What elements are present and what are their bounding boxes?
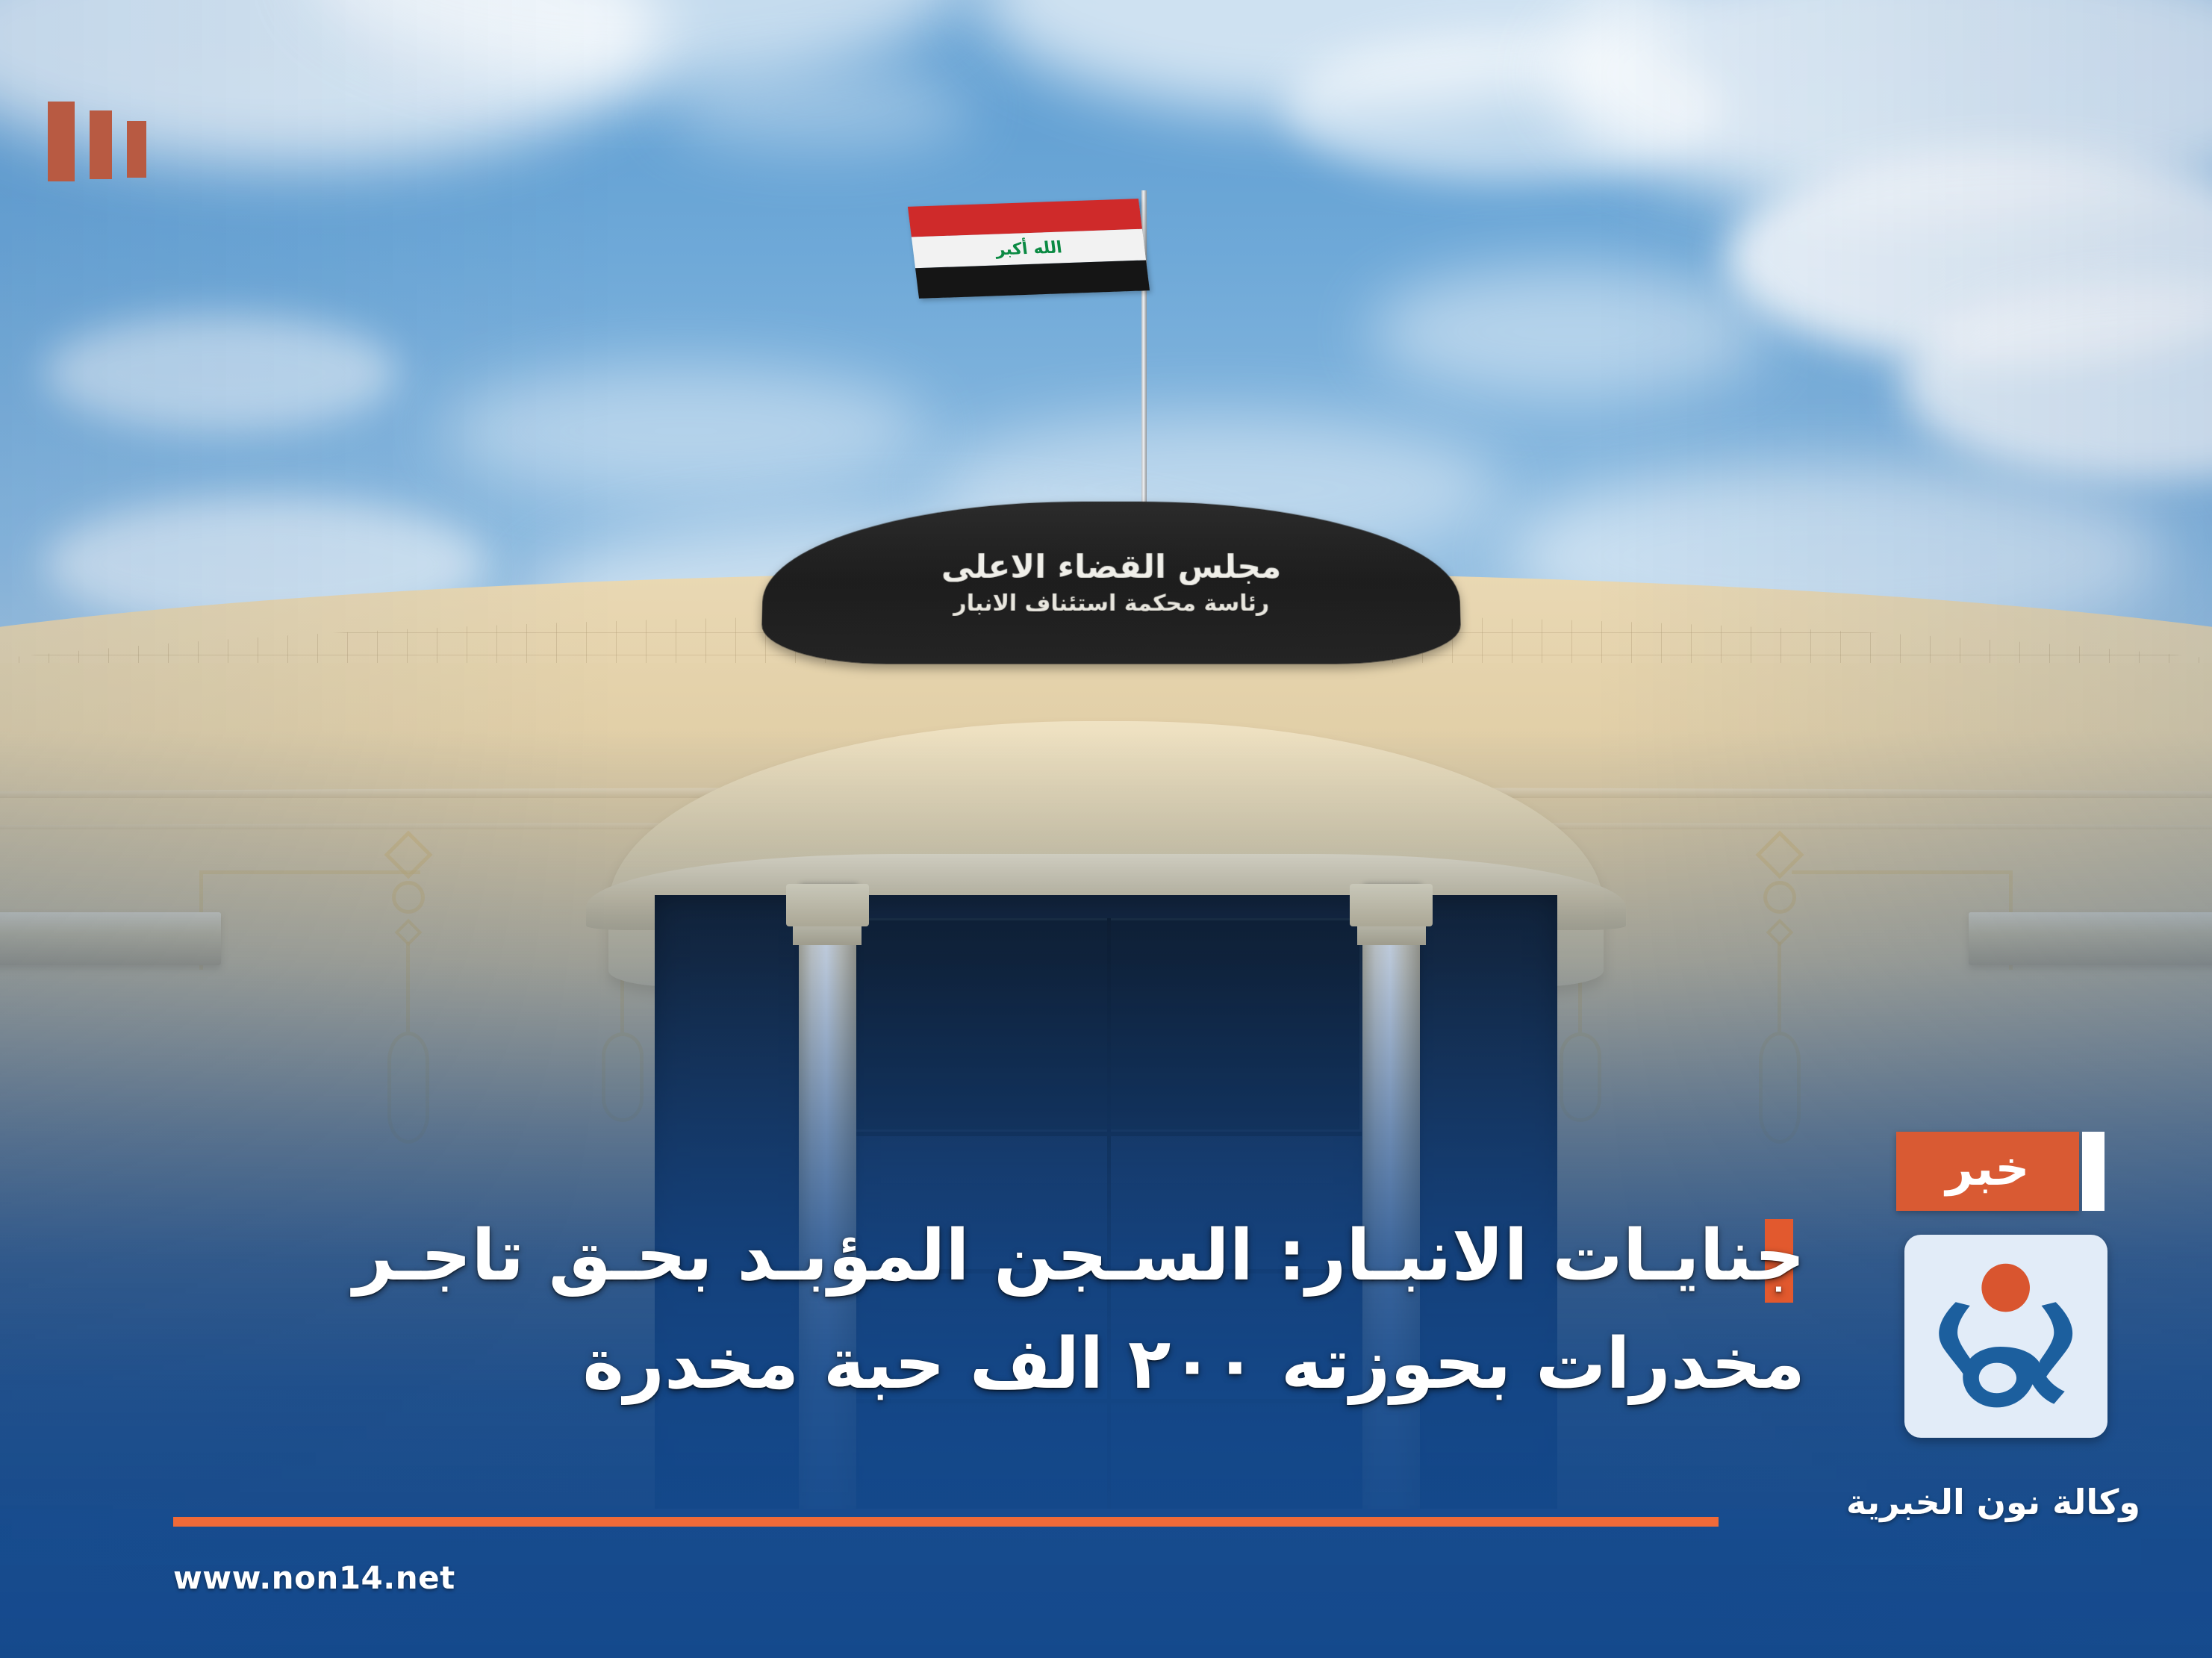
- news-badge: خبر: [1896, 1132, 2104, 1211]
- site-url[interactable]: www.non14.net: [173, 1559, 455, 1596]
- mark-bar-2: [90, 110, 112, 179]
- news-badge-tick: [2082, 1132, 2104, 1211]
- mark-bar-3: [127, 121, 146, 178]
- headline: جنايـات الانبـار: السـجن المؤبـد بحـق تا…: [90, 1204, 1805, 1416]
- three-bar-mark: [48, 102, 146, 181]
- brand-name: وكالة نون الخبرية: [1807, 1482, 2180, 1522]
- news-card-graphic: الله أكبر: [0, 0, 2212, 1658]
- headline-line-2: مخدرات بحوزته ٢٠٠ الف حبة مخدرة: [90, 1312, 1805, 1416]
- news-badge-label: خبر: [1945, 1145, 2029, 1197]
- mark-bar-1: [48, 102, 75, 181]
- news-badge-chip: خبر: [1896, 1132, 2079, 1211]
- noon-agency-logo-icon: [1904, 1235, 2107, 1438]
- headline-line-1: جنايـات الانبـار: السـجن المؤبـد بحـق تا…: [90, 1204, 1805, 1308]
- footer-divider: [173, 1517, 1719, 1527]
